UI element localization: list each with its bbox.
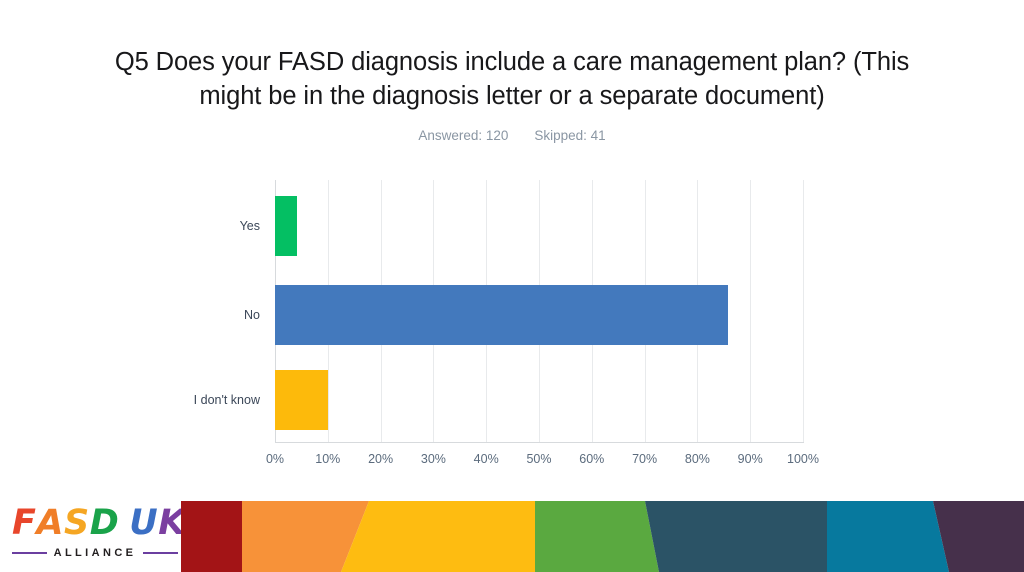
strip-segment-green: [535, 501, 659, 572]
y-axis-labels: Yes No I don't know: [55, 180, 260, 442]
y-axis-label-yes: Yes: [55, 219, 260, 233]
bar-i-dont-know: [275, 370, 328, 430]
strip-segment-blue: [827, 501, 949, 572]
chart-response-stats: Answered: 120Skipped: 41: [92, 128, 932, 143]
bar-yes: [275, 196, 297, 256]
logo-letter-d: D: [90, 503, 120, 543]
x-tick-70%: 70%: [632, 452, 657, 466]
gridline-100%: [803, 180, 804, 442]
logo-wordmark: FASD UK: [12, 503, 186, 543]
x-axis-tick-labels: 0%10%20%30%40%50%60%70%80%90%100%: [275, 452, 804, 472]
x-axis-line: [275, 442, 804, 443]
color-strip-svg: [181, 501, 1024, 572]
x-tick-60%: 60%: [579, 452, 604, 466]
strip-segment-amber: [341, 501, 535, 572]
x-tick-100%: 100%: [787, 452, 819, 466]
x-tick-90%: 90%: [738, 452, 763, 466]
strip-segment-dark-teal: [645, 501, 827, 572]
x-tick-80%: 80%: [685, 452, 710, 466]
x-tick-40%: 40%: [474, 452, 499, 466]
bar-no: [275, 285, 728, 345]
logo-letter-f: F: [12, 503, 36, 543]
logo-rule-left: [12, 552, 47, 554]
x-tick-30%: 30%: [421, 452, 446, 466]
logo-tagline: ALLIANCE: [54, 547, 137, 559]
x-tick-20%: 20%: [368, 452, 393, 466]
brand-color-strip: [181, 501, 1024, 572]
y-axis-label-no: No: [55, 308, 260, 322]
y-axis-label-i-dont-know: I don't know: [55, 393, 260, 407]
fasd-uk-alliance-logo: FASD UK ALLIANCE: [8, 501, 178, 567]
x-tick-0%: 0%: [266, 452, 284, 466]
answered-count: Answered: 120: [418, 128, 508, 143]
plot-area: [275, 180, 803, 442]
logo-letter-a: A: [36, 503, 64, 543]
gridline-90%: [750, 180, 751, 442]
strip-segment-dark-purple: [933, 501, 1024, 572]
logo-letter-u: U: [129, 503, 158, 543]
logo-rule-right: [143, 552, 178, 554]
logo-tagline-row: ALLIANCE: [12, 547, 178, 559]
strip-segment-dark-red: [181, 501, 242, 572]
x-tick-50%: 50%: [526, 452, 551, 466]
chart-title: Q5 Does your FASD diagnosis include a ca…: [92, 45, 932, 113]
skipped-count: Skipped: 41: [534, 128, 605, 143]
logo-letter-s: S: [64, 503, 90, 543]
x-tick-10%: 10%: [315, 452, 340, 466]
footer-band: FASD UK ALLIANCE: [0, 495, 1024, 572]
slide-canvas: Q5 Does your FASD diagnosis include a ca…: [0, 0, 1024, 495]
